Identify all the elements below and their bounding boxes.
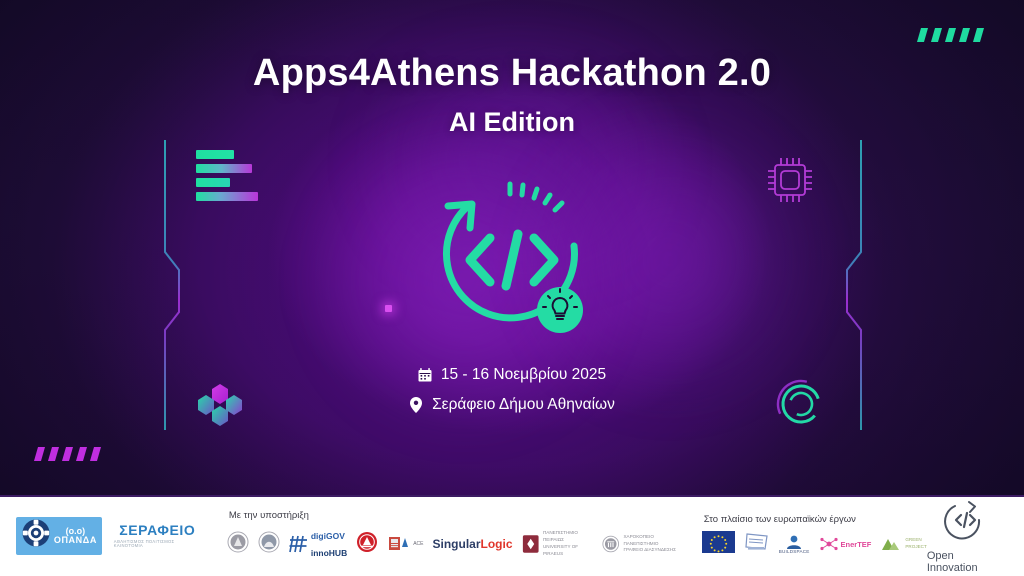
title-block: Apps4Athens Hackathon 2.0 AI Edition bbox=[0, 52, 1024, 138]
event-date: 15 - 16 Νοεμβρίου 2025 bbox=[441, 366, 606, 384]
enertef-logo[interactable]: EnerTEF bbox=[819, 535, 872, 553]
event-info: 15 - 16 Νοεμβρίου 2025 Σεράφειο Δήμου Αθ… bbox=[0, 366, 1024, 426]
support-logo-row: digiGOV innoHUB bbox=[227, 527, 682, 561]
european-union-flag-icon[interactable] bbox=[702, 531, 735, 558]
harokopio-line2: ΓΡΑΦΕΙΟ ΔΙΑΣΥΝΔΕΣΗΣ bbox=[623, 547, 676, 552]
eu-projects-column: Στο πλαίσιο των ευρωπαϊκών έργων bbox=[702, 514, 927, 558]
digigov-line2: innoHUB bbox=[311, 548, 347, 558]
ace-logo[interactable]: ACE bbox=[387, 533, 423, 555]
eu-logo-row: BUILDSPACE bbox=[702, 531, 927, 558]
serafeio-logo[interactable]: ΣΕΡΑΦΕΙΟ ΑΘΛΗΤΙΣΜΟΣ ΠΟΛΙΤΙΣΜΟΣ ΚΑΙΝΟΤΟΜΙ… bbox=[114, 523, 201, 548]
cpu-chip-icon bbox=[762, 152, 818, 213]
digigov-line1: digiGOV bbox=[311, 531, 345, 541]
event-date-row: 15 - 16 Νοεμβρίου 2025 bbox=[0, 366, 1024, 384]
athens-municipality-logo[interactable]: (o.o) ΟΠΑΝΔΑ bbox=[16, 517, 102, 555]
red-crest-logo[interactable] bbox=[356, 531, 378, 558]
digigov-innohub-logo[interactable]: digiGOV innoHUB bbox=[289, 527, 347, 561]
map-pin-icon bbox=[409, 397, 423, 413]
singularlogic-text-a: Singular bbox=[433, 537, 481, 551]
event-location: Σεράφειο Δήμου Αθηναίων bbox=[432, 396, 615, 414]
hero-section: Apps4Athens Hackathon 2.0 AI Edition bbox=[0, 0, 1024, 495]
dash-marks-icon bbox=[919, 28, 982, 42]
serafeio-tagline: ΑΘΛΗΤΙΣΜΟΣ ΠΟΛΙΤΙΣΜΟΣ ΚΑΙΝΟΤΟΜΙΑ bbox=[114, 540, 201, 548]
code-refresh-lightbulb-icon bbox=[424, 172, 600, 348]
organizer-logos: (o.o) ΟΠΑΝΔΑ ΣΕΡΑΦΕΙΟ ΑΘΛΗΤΙΣΜΟΣ ΠΟΛΙΤΙΣ… bbox=[16, 517, 201, 555]
eu-label: Στο πλαίσιο των ευρωπαϊκών έργων bbox=[702, 514, 927, 525]
page-subtitle: AI Edition bbox=[0, 107, 1024, 138]
piraeus-line1: ΠΑΝΕΠΙΣΤΗΜΙΟ ΠΕΙΡΑΙΩΣ bbox=[543, 530, 578, 542]
page-title: Apps4Athens Hackathon 2.0 bbox=[0, 52, 1024, 95]
national-technical-university-logo[interactable] bbox=[258, 531, 280, 558]
harokopio-university-logo[interactable]: ΧΑΡΟΚΟΠΕΙΟ ΠΑΝΕΠΙΣΤΗΜΙΟ ΓΡΑΦΕΙΟ ΔΙΑΣΥΝΔΕ… bbox=[602, 534, 682, 555]
spark-dot-icon bbox=[385, 305, 392, 312]
event-location-row: Σεράφειο Δήμου Αθηναίων bbox=[0, 396, 1024, 414]
buildspace-label: BUILDSPACE bbox=[779, 550, 810, 555]
singularlogic-text-b: Logic bbox=[481, 537, 513, 551]
dash-marks-icon bbox=[36, 447, 99, 461]
open-innovation-logo[interactable]: Open Innovation bbox=[927, 498, 1010, 574]
poster-root: Apps4Athens Hackathon 2.0 AI Edition bbox=[0, 0, 1024, 576]
green-project-logo[interactable]: GREEN PROJECT bbox=[880, 535, 926, 553]
eu-project-logo[interactable] bbox=[744, 531, 770, 558]
ace-label: ACE bbox=[413, 541, 423, 547]
support-column: Με την υποστήριξη bbox=[227, 510, 682, 561]
open-innovation-code-icon bbox=[943, 498, 987, 547]
support-label: Με την υποστήριξη bbox=[227, 510, 682, 521]
buildspace-logo[interactable]: BUILDSPACE bbox=[779, 534, 810, 555]
calendar-icon bbox=[418, 367, 432, 383]
piraeus-line2: UNIVERSITY OF PIRAEUS bbox=[543, 544, 578, 556]
harokopio-line1: ΧΑΡΟΚΟΠΕΙΟ ΠΑΝΕΠΙΣΤΗΜΙΟ bbox=[623, 534, 658, 546]
open-innovation-label: Open Innovation bbox=[927, 550, 1004, 574]
singularlogic-logo[interactable]: SingularLogic bbox=[433, 537, 513, 551]
athens-municipality-emblem-icon bbox=[21, 518, 51, 553]
national-kapodistrian-university-logo[interactable] bbox=[227, 531, 249, 558]
code-lines-icon bbox=[196, 150, 258, 206]
serafeio-name: ΣΕΡΑΦΕΙΟ bbox=[119, 523, 195, 537]
green-project-line2: PROJECT bbox=[905, 544, 926, 549]
green-project-line1: GREEN bbox=[905, 537, 921, 542]
host-logo-line2: ΟΠΑΝΔΑ bbox=[54, 536, 97, 545]
footer-section: (o.o) ΟΠΑΝΔΑ ΣΕΡΑΦΕΙΟ ΑΘΛΗΤΙΣΜΟΣ ΠΟΛΙΤΙΣ… bbox=[0, 495, 1024, 576]
enertef-label: EnerTEF bbox=[841, 540, 872, 549]
university-of-piraeus-logo[interactable]: ΠΑΝΕΠΙΣΤΗΜΙΟ ΠΕΙΡΑΙΩΣ UNIVERSITY OF PIRA… bbox=[522, 530, 593, 558]
